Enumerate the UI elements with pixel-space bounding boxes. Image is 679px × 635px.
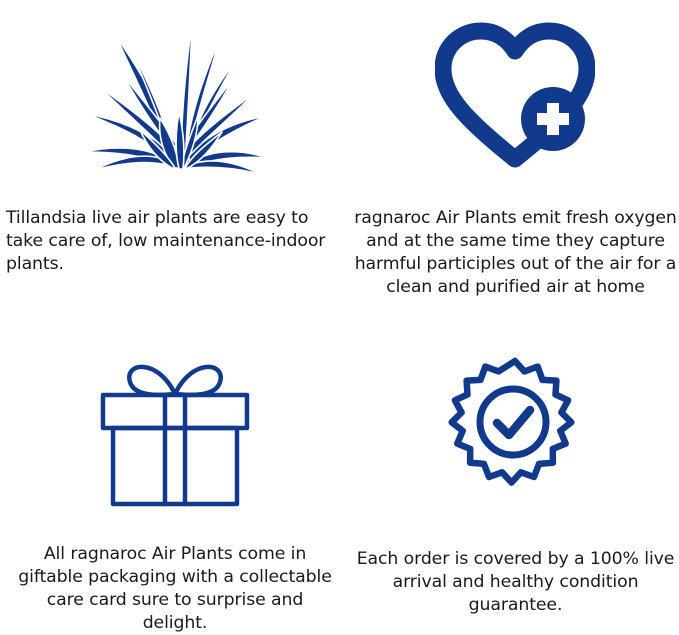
heart-plus-icon: [350, 0, 679, 183]
verified-badge-icon: [350, 308, 679, 515]
gift-box-icon: [0, 308, 350, 510]
feature-cell-giftable-packaging: All ragnaroc Air Plants come in giftable…: [0, 308, 350, 617]
air-plant-icon: [0, 0, 350, 183]
feature-cell-live-arrival-guarantee: Each order is covered by a 100% live arr…: [350, 308, 679, 617]
feature-cell-easy-care: Tillandsia live air plants are easy to t…: [0, 0, 350, 308]
feature-caption: Each order is covered by a 100% live arr…: [350, 515, 679, 617]
feature-caption: All ragnaroc Air Plants come in giftable…: [0, 510, 350, 635]
feature-caption: ragnaroc Air Plants emit fresh oxygen an…: [350, 183, 679, 299]
feature-caption: Tillandsia live air plants are easy to t…: [0, 183, 350, 276]
feature-grid: Tillandsia live air plants are easy to t…: [0, 0, 679, 617]
feature-cell-fresh-oxygen: ragnaroc Air Plants emit fresh oxygen an…: [350, 0, 679, 308]
